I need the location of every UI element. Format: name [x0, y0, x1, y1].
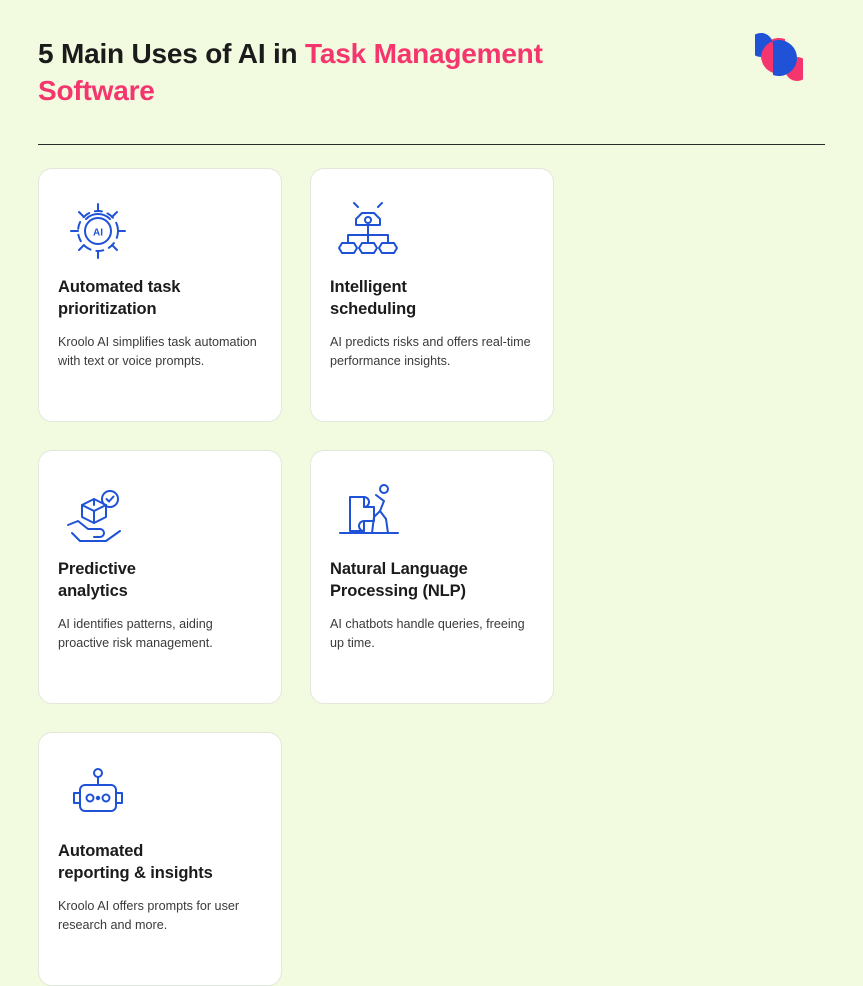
card-title: Automated reporting & insights: [58, 841, 262, 885]
card-title-line1: Intelligent: [330, 277, 534, 299]
card-intelligent-scheduling[interactable]: Intelligent scheduling AI predicts risks…: [310, 168, 554, 422]
header: 5 Main Uses of AI in Task Management Sof…: [38, 0, 825, 122]
card-grid: AI Automated task prioritization Kroolo …: [38, 168, 825, 986]
card-title-line2: prioritization: [58, 299, 262, 321]
card-description: Kroolo AI simplifies task automation wit…: [58, 333, 262, 372]
card-title-line1: Predictive: [58, 559, 262, 581]
puzzle-person-icon: [330, 469, 534, 557]
card-natural-language-processing[interactable]: Natural Language Processing (NLP) AI cha…: [310, 450, 554, 704]
card-predictive-analytics[interactable]: Predictive analytics AI identifies patte…: [38, 450, 282, 704]
card-title-line1: Natural Language: [330, 559, 534, 581]
card-description: AI chatbots handle queries, freeing up t…: [330, 615, 534, 654]
card-title-line1: Automated task: [58, 277, 262, 299]
card-title-line2: scheduling: [330, 299, 534, 321]
kroolo-logo-icon: [755, 33, 803, 81]
card-title: Natural Language Processing (NLP): [330, 559, 534, 603]
card-automated-task-prioritization[interactable]: AI Automated task prioritization Kroolo …: [38, 168, 282, 422]
card-description: Kroolo AI offers prompts for user resear…: [58, 897, 262, 936]
robot-head-icon: [58, 751, 262, 839]
card-title-line2: Processing (NLP): [330, 581, 534, 603]
card-title: Automated task prioritization: [58, 277, 262, 321]
svg-text:AI: AI: [93, 228, 103, 239]
hand-checkmark-box-icon: [58, 469, 262, 557]
page-title: 5 Main Uses of AI in Task Management Sof…: [38, 36, 598, 110]
card-automated-reporting-insights[interactable]: Automated reporting & insights Kroolo AI…: [38, 732, 282, 986]
card-description: AI predicts risks and offers real-time p…: [330, 333, 534, 372]
header-divider: [38, 144, 825, 145]
page-title-plain: 5 Main Uses of AI in: [38, 38, 305, 69]
card-title-line2: reporting & insights: [58, 863, 262, 885]
ai-gear-icon: AI: [58, 187, 262, 275]
hierarchy-network-icon: [330, 187, 534, 275]
card-title-line2: analytics: [58, 581, 262, 603]
card-title-line1: Automated: [58, 841, 262, 863]
card-title: Intelligent scheduling: [330, 277, 534, 321]
card-description: AI identifies patterns, aiding proactive…: [58, 615, 262, 654]
card-title: Predictive analytics: [58, 559, 262, 603]
infographic-page: 5 Main Uses of AI in Task Management Sof…: [0, 0, 863, 778]
